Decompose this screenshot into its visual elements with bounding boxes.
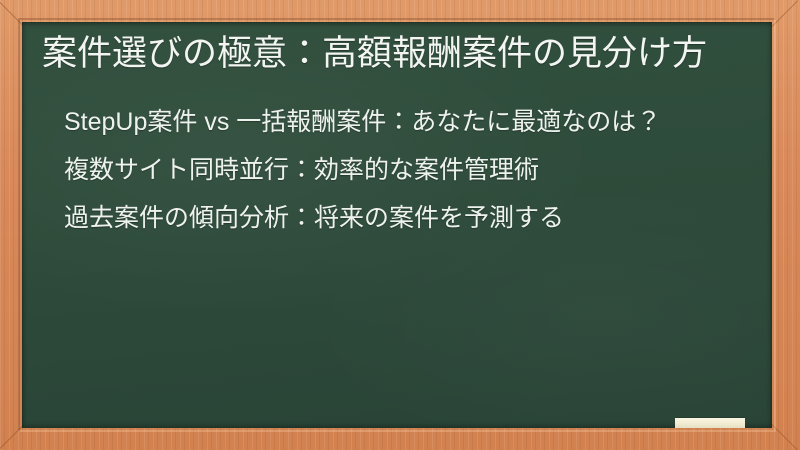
slide-bullet-item: 過去案件の傾向分析：将来の案件を予測する — [64, 196, 752, 240]
slide-bullet-item: StepUp案件 vs 一括報酬案件：あなたに最適なのは？ — [64, 100, 752, 144]
chalkboard-surface: 案件選びの極意：高額報酬案件の見分け方 StepUp案件 vs 一括報酬案件：あ… — [22, 22, 772, 428]
slide-canvas: 案件選びの極意：高額報酬案件の見分け方 StepUp案件 vs 一括報酬案件：あ… — [0, 0, 800, 450]
slide-bullet-item: 複数サイト同時並行：効率的な案件管理術 — [64, 148, 752, 192]
slide-bullet-list: StepUp案件 vs 一括報酬案件：あなたに最適なのは？ 複数サイト同時並行：… — [32, 100, 758, 240]
chalk-stick-icon — [675, 418, 745, 428]
slide-title: 案件選びの極意：高額報酬案件の見分け方 — [32, 30, 758, 78]
chalkboard-content: 案件選びの極意：高額報酬案件の見分け方 StepUp案件 vs 一括報酬案件：あ… — [22, 22, 772, 428]
